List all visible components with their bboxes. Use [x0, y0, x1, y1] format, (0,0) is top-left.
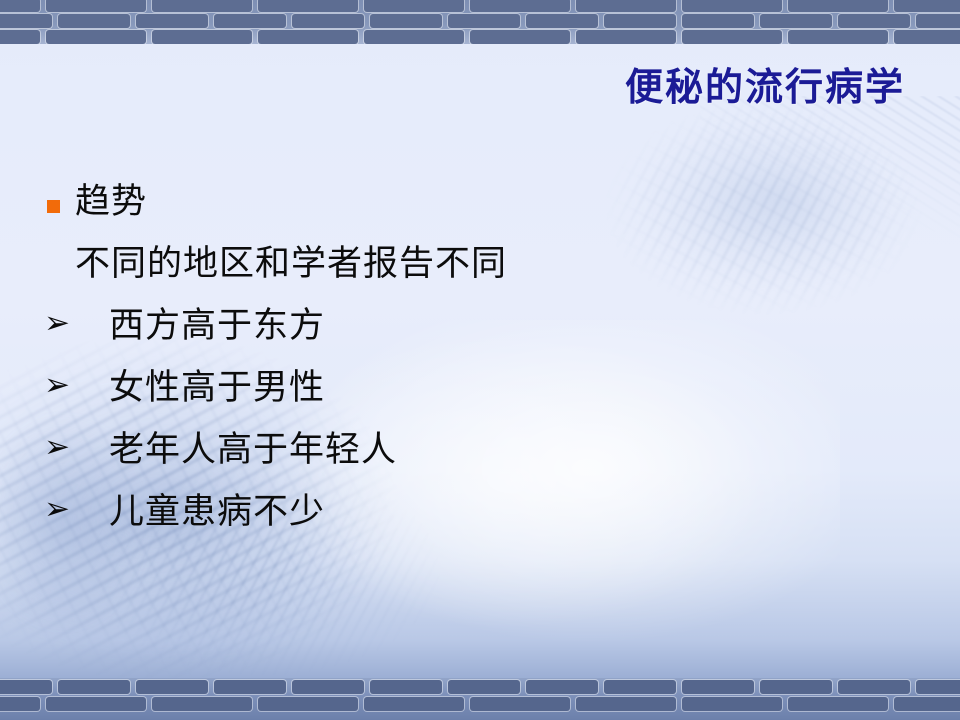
- brick: [838, 14, 910, 28]
- brick: [682, 697, 782, 711]
- list-item: ➢ 老年人高于年轻人: [0, 428, 960, 490]
- top-brick-border: [0, 0, 960, 44]
- brick: [46, 30, 146, 44]
- brick: [682, 30, 782, 44]
- brick: [370, 680, 442, 694]
- list-item-label: 趋势: [75, 180, 147, 224]
- list-item-label: 老年人高于年轻人: [109, 428, 397, 472]
- brick: [788, 30, 888, 44]
- brick: [0, 14, 52, 28]
- brick: [136, 680, 208, 694]
- brick-row: [0, 30, 960, 44]
- brick: [894, 697, 960, 711]
- bottom-brick-border: [0, 678, 960, 720]
- brick: [58, 14, 130, 28]
- brick: [576, 0, 676, 12]
- brick: [258, 697, 358, 711]
- brick: [364, 30, 464, 44]
- brick: [470, 30, 570, 44]
- brick: [0, 697, 40, 711]
- brick: [760, 14, 832, 28]
- brick: [526, 680, 598, 694]
- brick: [292, 14, 364, 28]
- brick: [46, 0, 146, 12]
- brick: [214, 680, 286, 694]
- brick: [894, 30, 960, 44]
- brick: [152, 0, 252, 12]
- list-item-label: 西方高于东方: [109, 304, 325, 348]
- list-item-label: 女性高于男性: [109, 366, 325, 410]
- brick: [364, 0, 464, 12]
- brick: [370, 14, 442, 28]
- brick: [364, 697, 464, 711]
- arrow-bullet-icon: ➢: [44, 370, 78, 401]
- brick: [916, 14, 960, 28]
- square-bullet-icon: [47, 200, 60, 213]
- brick: [58, 680, 130, 694]
- list-item: ➢ 女性高于男性: [0, 366, 960, 428]
- brick: [46, 697, 146, 711]
- brick: [604, 14, 676, 28]
- brick: [0, 30, 40, 44]
- brick: [0, 680, 52, 694]
- arrow-bullet-icon: ➢: [44, 432, 78, 463]
- brick: [258, 0, 358, 12]
- list-item-label: 儿童患病不少: [109, 490, 325, 534]
- brick: [448, 680, 520, 694]
- brick: [788, 697, 888, 711]
- brick: [788, 0, 888, 12]
- brick: [448, 14, 520, 28]
- brick: [760, 680, 832, 694]
- brick: [526, 14, 598, 28]
- list-item: ➢ 西方高于东方: [0, 304, 960, 366]
- brick: [214, 14, 286, 28]
- brick: [470, 0, 570, 12]
- presentation-slide: 便秘的流行病学 趋势 不同的地区和学者报告不同 ➢ 西方高于东方 ➢ 女性高于男…: [0, 0, 960, 720]
- list-item-label: 不同的地区和学者报告不同: [75, 242, 507, 286]
- brick: [152, 30, 252, 44]
- brick: [576, 30, 676, 44]
- slide-body: 趋势 不同的地区和学者报告不同 ➢ 西方高于东方 ➢ 女性高于男性 ➢ 老年人高…: [0, 180, 960, 552]
- brick: [682, 0, 782, 12]
- brick: [152, 697, 252, 711]
- brick: [916, 680, 960, 694]
- brick: [470, 697, 570, 711]
- brick-row: [0, 680, 960, 694]
- slide-title: 便秘的流行病学: [625, 56, 905, 111]
- brick-row: [0, 14, 960, 28]
- list-item: ➢ 儿童患病不少: [0, 490, 960, 552]
- list-item: 趋势: [0, 180, 960, 242]
- brick: [894, 0, 960, 12]
- brick: [136, 14, 208, 28]
- brick: [258, 30, 358, 44]
- arrow-bullet-icon: ➢: [44, 494, 78, 525]
- list-item: 不同的地区和学者报告不同: [0, 242, 960, 304]
- brick: [604, 680, 676, 694]
- brick-row: [0, 697, 960, 711]
- brick: [0, 0, 40, 12]
- brick: [838, 680, 910, 694]
- brick: [682, 14, 754, 28]
- brick: [292, 680, 364, 694]
- arrow-bullet-icon: ➢: [44, 308, 78, 339]
- brick: [682, 680, 754, 694]
- brick-row: [0, 0, 960, 12]
- brick: [576, 697, 676, 711]
